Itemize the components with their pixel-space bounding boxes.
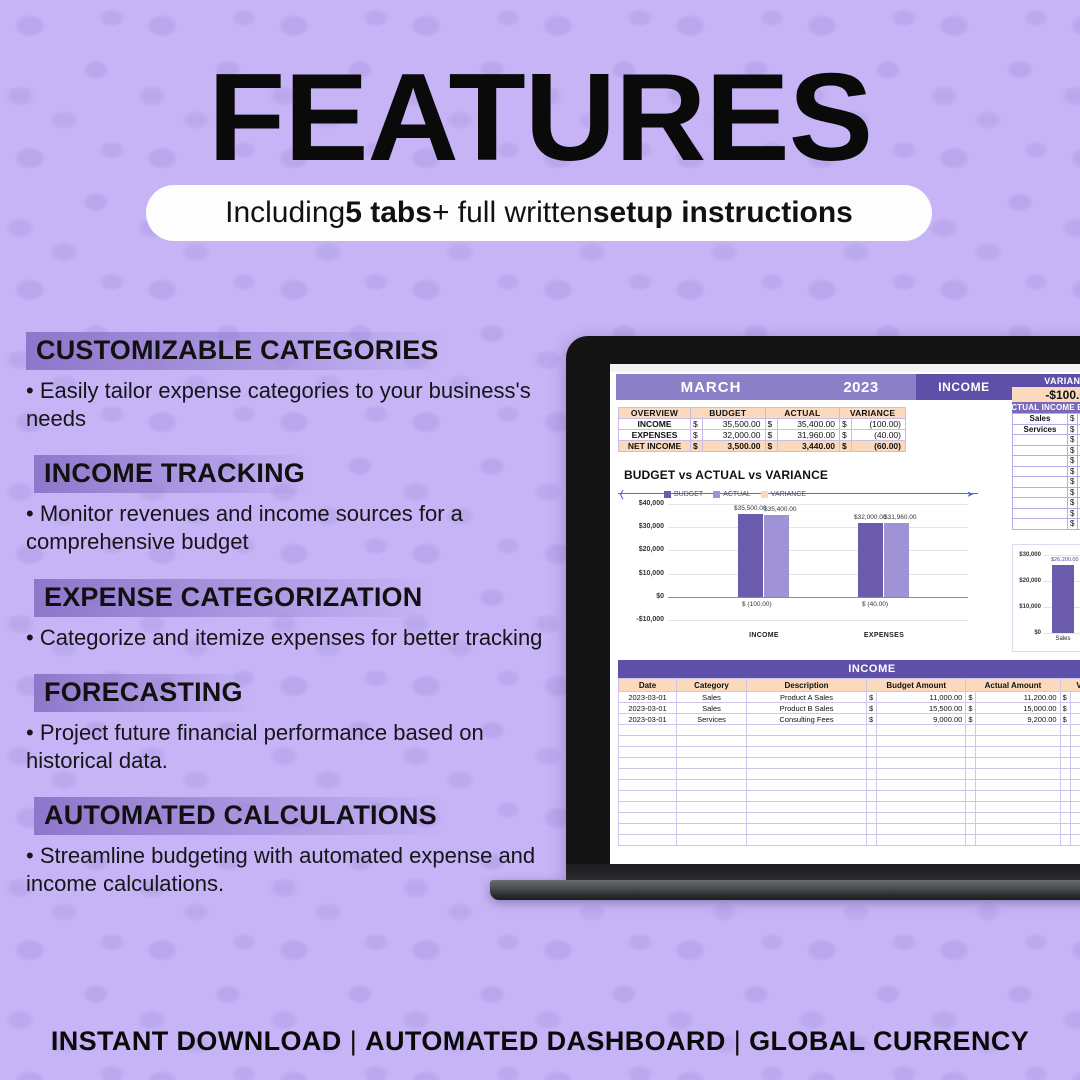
- legend-item-variance: VARIANCE: [761, 491, 806, 498]
- chart-bar-value-label: $35,400.00: [764, 506, 797, 513]
- chart-plot-area: $40,000$30,000$20,000$10,000$0-$10,000$3…: [668, 504, 968, 620]
- currency-symbol: $: [840, 430, 852, 441]
- income-col-description: Description: [747, 679, 867, 692]
- table-row: Sales$26,200.00: [1013, 414, 1080, 425]
- income-col-date: Date: [619, 679, 677, 692]
- currency-symbol: $: [966, 703, 976, 714]
- currency-symbol: $: [867, 692, 877, 703]
- subtitle-pre: Including: [225, 196, 345, 230]
- budget-vs-actual-chart: BUDGET vs ACTUAL vs VARIANCE ❬ ➤ BUDGET …: [618, 468, 978, 650]
- overview-variance-value: (100.00): [852, 419, 906, 430]
- income-date: 2023-03-01: [619, 692, 677, 703]
- chart-bar-value-label: $35,500.00: [734, 505, 767, 512]
- chart-y-tick-label: -$10,000: [636, 616, 664, 623]
- feature-item-customizable-categories: CUSTOMIZABLE CATEGORIES • Easily tailor …: [26, 332, 586, 433]
- income-col-actual-amount: Actual Amount: [966, 679, 1060, 692]
- income-banner: INCOME: [916, 374, 1012, 400]
- table-row: $-: [1013, 487, 1080, 498]
- overview-actual-value: 35,400.00: [777, 419, 840, 430]
- currency-symbol: $: [1060, 692, 1070, 703]
- currency-symbol: $: [840, 441, 852, 452]
- actual-income-breakdown-banner: ACTUAL INCOME BREAKDOWN: [1012, 402, 1080, 413]
- chart-x-tick-label: INCOME: [742, 632, 786, 639]
- chart-variance-label: $ (40.00): [862, 601, 888, 608]
- legend-label: ACTUAL: [723, 491, 751, 498]
- table-row-empty: [619, 747, 1080, 758]
- overview-row-label: INCOME: [619, 419, 691, 430]
- income-budget-amount: 15,500.00: [877, 703, 966, 714]
- month-banner: MARCH 2023: [616, 374, 916, 400]
- spreadsheet-viewport: MARCH 2023 INCOME VARIANCE -$100.00 ACTU…: [610, 364, 1080, 864]
- table-row-empty: [619, 802, 1080, 813]
- overview-table: OVERVIEW BUDGET ACTUAL VARIANCE INCOME $…: [618, 407, 906, 452]
- table-row-empty: [619, 725, 1080, 736]
- income-detail-title: INCOME: [618, 660, 1080, 678]
- table-row: Services$9,200.00: [1013, 424, 1080, 435]
- table-row: $-: [1013, 508, 1080, 519]
- chart-y-tick-label: $20,000: [639, 546, 664, 553]
- table-row: $-: [1013, 466, 1080, 477]
- feature-body: • Streamline budgeting with automated ex…: [26, 842, 566, 898]
- legend-label: BUDGET: [674, 491, 703, 498]
- chart-bar-value-label: $32,000.00: [854, 514, 887, 521]
- feature-heading: CUSTOMIZABLE CATEGORIES: [26, 332, 449, 370]
- currency-symbol: $: [691, 441, 703, 452]
- legend-swatch-icon: [713, 491, 720, 498]
- laptop-screen: MARCH 2023 INCOME VARIANCE -$100.00 ACTU…: [610, 364, 1080, 864]
- subtitle-bold-tabs: 5 tabs: [345, 196, 432, 230]
- currency-symbol: $: [765, 419, 777, 430]
- feature-body: • Project future financial performance b…: [26, 719, 566, 775]
- currency-symbol: $: [765, 430, 777, 441]
- income-category: Sales: [677, 692, 747, 703]
- table-row: EXPENSES $ 32,000.00 $ 31,960.00 $ (40.0…: [619, 430, 906, 441]
- overview-col-budget: BUDGET: [691, 408, 766, 419]
- currency-symbol: $: [1068, 477, 1078, 488]
- chart-gridline: [668, 620, 968, 621]
- income-col-category: Category: [677, 679, 747, 692]
- chart-y-tick-label: $30,000: [1013, 552, 1041, 558]
- breakdown-name: [1013, 508, 1068, 519]
- income-date: 2023-03-01: [619, 703, 677, 714]
- chart-baseline: [668, 597, 968, 598]
- currency-symbol: $: [840, 419, 852, 430]
- feature-body: • Categorize and itemize expenses for be…: [26, 624, 566, 652]
- table-row-empty: [619, 835, 1080, 846]
- income-actual-amount: 15,000.00: [976, 703, 1060, 714]
- breakdown-name: Services: [1013, 424, 1068, 435]
- income-category: Sales: [677, 703, 747, 714]
- breakdown-name: [1013, 456, 1068, 467]
- overview-actual-value: 3,440.00: [777, 441, 840, 452]
- income-col-variance: Variance: [1060, 679, 1080, 692]
- table-row-empty: [619, 791, 1080, 802]
- table-row: $-: [1013, 498, 1080, 509]
- feature-heading: FORECASTING: [34, 674, 253, 712]
- currency-symbol: $: [691, 430, 703, 441]
- chart-bar-budget: [738, 514, 763, 596]
- chart-bar-actual: [884, 523, 909, 597]
- chart-bar-actual: [764, 515, 789, 597]
- currency-symbol: $: [765, 441, 777, 452]
- table-row-empty: [619, 824, 1080, 835]
- page-title: FEATURES: [0, 56, 1080, 180]
- footer-banner: INSTANT DOWNLOAD|AUTOMATED DASHBOARD|GLO…: [0, 1026, 1080, 1057]
- overview-variance-value: (60.00): [852, 441, 906, 452]
- income-detail-table: Date Category Description Budget Amount …: [618, 678, 1080, 846]
- currency-symbol: $: [1068, 456, 1078, 467]
- overview-col-actual: ACTUAL: [765, 408, 840, 419]
- table-row: 2023-03-01ServicesConsulting Fees$9,000.…: [619, 714, 1080, 725]
- chart-gridline: [668, 504, 968, 505]
- table-row: $-: [1013, 435, 1080, 446]
- chart-scroll-left-icon[interactable]: ❬: [618, 489, 626, 500]
- chart-gridline: [668, 574, 968, 575]
- currency-symbol: $: [1068, 445, 1078, 456]
- currency-symbol: $: [691, 419, 703, 430]
- feature-item-income-tracking: INCOME TRACKING • Monitor revenues and i…: [26, 455, 586, 556]
- chart-title: BUDGET vs ACTUAL vs VARIANCE: [624, 468, 828, 482]
- chart-bar-sales: [1052, 565, 1074, 633]
- chart-bar-value-label: $31,960.00: [884, 514, 917, 521]
- chart-legend: BUDGET ACTUAL VARIANCE: [664, 488, 964, 500]
- table-row: 2023-03-01SalesProduct B Sales$15,500.00…: [619, 703, 1080, 714]
- table-row: $-: [1013, 477, 1080, 488]
- income-budget-amount: 9,000.00: [877, 714, 966, 725]
- breakdown-name: [1013, 445, 1068, 456]
- income-breakdown-chart: $30,000$20,000$10,000$0$26,200.00Sales$9…: [1012, 544, 1080, 652]
- feature-body: • Monitor revenues and income sources fo…: [26, 500, 566, 556]
- spreadsheet-top-strip: [610, 364, 1080, 372]
- breakdown-name: [1013, 477, 1068, 488]
- table-row: $-: [1013, 519, 1080, 530]
- income-variance: 200.00: [1070, 692, 1080, 703]
- footer-separator: |: [726, 1026, 749, 1056]
- overview-budget-value: 3,500.00: [703, 441, 766, 452]
- chart-bar-value-label: $26,200.00: [1051, 557, 1079, 563]
- table-header-row: OVERVIEW BUDGET ACTUAL VARIANCE: [619, 408, 906, 419]
- table-row: INCOME $ 35,500.00 $ 35,400.00 $ (100.00…: [619, 419, 906, 430]
- chart-y-tick-label: $0: [1013, 630, 1041, 636]
- variance-banner: VARIANCE: [1012, 374, 1080, 387]
- overview-budget-value: 35,500.00: [703, 419, 766, 430]
- currency-symbol: $: [1068, 424, 1078, 435]
- table-row-empty: [619, 813, 1080, 824]
- subtitle-bold-setup: setup instructions: [593, 196, 853, 230]
- chart-scroll-right-icon[interactable]: ➤: [966, 489, 974, 500]
- feature-list: CUSTOMIZABLE CATEGORIES • Easily tailor …: [26, 332, 586, 912]
- chart-gridline: [1043, 633, 1080, 634]
- subtitle-mid: + full written: [432, 196, 593, 230]
- overview-budget-value: 32,000.00: [703, 430, 766, 441]
- legend-item-budget: BUDGET: [664, 491, 703, 498]
- chart-y-tick-label: $0: [656, 593, 664, 600]
- table-row-total: NET INCOME $ 3,500.00 $ 3,440.00 $ (60.0…: [619, 441, 906, 452]
- income-variance: (500.00): [1070, 703, 1080, 714]
- currency-symbol: $: [1068, 487, 1078, 498]
- income-variance: 200.00: [1070, 714, 1080, 725]
- overview-actual-value: 31,960.00: [777, 430, 840, 441]
- income-category: Services: [677, 714, 747, 725]
- breakdown-name: [1013, 519, 1068, 530]
- table-row: $-: [1013, 445, 1080, 456]
- table-row: $-: [1013, 456, 1080, 467]
- income-description: Consulting Fees: [747, 714, 867, 725]
- table-row-empty: [619, 780, 1080, 791]
- breakdown-name: [1013, 498, 1068, 509]
- overview-row-label: EXPENSES: [619, 430, 691, 441]
- currency-symbol: $: [1068, 435, 1078, 446]
- chart-variance-label: $ (100.00): [742, 601, 772, 608]
- chart-gridline: [668, 550, 968, 551]
- chart-bar-budget: [858, 523, 883, 597]
- currency-symbol: $: [966, 714, 976, 725]
- legend-swatch-icon: [761, 491, 768, 498]
- currency-symbol: $: [1068, 498, 1078, 509]
- table-row-empty: [619, 736, 1080, 747]
- currency-symbol: $: [966, 692, 976, 703]
- feature-item-automated-calculations: AUTOMATED CALCULATIONS • Streamline budg…: [26, 797, 586, 898]
- chart-y-tick-label: $10,000: [1013, 604, 1041, 610]
- currency-symbol: $: [1068, 508, 1078, 519]
- chart-y-tick-label: $10,000: [639, 570, 664, 577]
- overview-col-overview: OVERVIEW: [619, 408, 691, 419]
- table-row-empty: [619, 758, 1080, 769]
- feature-item-expense-categorization: EXPENSE CATEGORIZATION • Categorize and …: [26, 579, 586, 652]
- chart-gridline: [1043, 555, 1080, 556]
- currency-symbol: $: [1068, 466, 1078, 477]
- month-label: MARCH: [616, 379, 806, 396]
- income-date: 2023-03-01: [619, 714, 677, 725]
- income-budget-amount: 11,000.00: [877, 692, 966, 703]
- laptop-mockup: MARCH 2023 INCOME VARIANCE -$100.00 ACTU…: [566, 336, 1080, 916]
- chart-gridline: [668, 527, 968, 528]
- income-description: Product B Sales: [747, 703, 867, 714]
- currency-symbol: $: [1068, 519, 1078, 530]
- chart-y-tick-label: $30,000: [639, 523, 664, 530]
- feature-heading: INCOME TRACKING: [34, 455, 315, 493]
- overview-col-variance: VARIANCE: [840, 408, 906, 419]
- footer-item-global-currency: GLOBAL CURRENCY: [749, 1026, 1029, 1056]
- legend-swatch-icon: [664, 491, 671, 498]
- chart-y-tick-label: $40,000: [639, 500, 664, 507]
- actual-income-breakdown-table: Sales$26,200.00Services$9,200.00$-$-$-$-…: [1012, 413, 1080, 530]
- currency-symbol: $: [1060, 714, 1070, 725]
- table-header-row: Date Category Description Budget Amount …: [619, 679, 1080, 692]
- currency-symbol: $: [867, 714, 877, 725]
- currency-symbol: $: [1060, 703, 1070, 714]
- breakdown-name: [1013, 466, 1068, 477]
- breakdown-name: [1013, 487, 1068, 498]
- income-actual-amount: 11,200.00: [976, 692, 1060, 703]
- income-actual-amount: 9,200.00: [976, 714, 1060, 725]
- chart-x-tick-label: EXPENSES: [862, 632, 906, 639]
- currency-symbol: $: [1068, 414, 1078, 425]
- legend-item-actual: ACTUAL: [713, 491, 751, 498]
- income-col-budget-amount: Budget Amount: [867, 679, 966, 692]
- footer-separator: |: [342, 1026, 365, 1056]
- variance-value: -$100.00: [1012, 387, 1080, 402]
- chart-x-tick-label: Sales: [1045, 636, 1080, 642]
- subtitle-pill: Including 5 tabs + full written setup in…: [146, 185, 932, 241]
- feature-item-forecasting: FORECASTING • Project future financial p…: [26, 674, 586, 775]
- overview-variance-value: (40.00): [852, 430, 906, 441]
- year-label: 2023: [806, 379, 916, 396]
- income-description: Product A Sales: [747, 692, 867, 703]
- footer-item-automated-dashboard: AUTOMATED DASHBOARD: [365, 1026, 726, 1056]
- currency-symbol: $: [867, 703, 877, 714]
- overview-row-label: NET INCOME: [619, 441, 691, 452]
- breakdown-name: [1013, 435, 1068, 446]
- feature-body: • Easily tailor expense categories to yo…: [26, 377, 566, 433]
- chart-y-tick-label: $20,000: [1013, 578, 1041, 584]
- spreadsheet-app: MARCH 2023 INCOME VARIANCE -$100.00 ACTU…: [610, 364, 1080, 864]
- legend-label: VARIANCE: [771, 491, 806, 498]
- table-row-empty: [619, 769, 1080, 780]
- table-row: 2023-03-01SalesProduct A Sales$11,000.00…: [619, 692, 1080, 703]
- breakdown-name: Sales: [1013, 414, 1068, 425]
- feature-heading: AUTOMATED CALCULATIONS: [34, 797, 447, 835]
- footer-item-instant-download: INSTANT DOWNLOAD: [51, 1026, 342, 1056]
- feature-heading: EXPENSE CATEGORIZATION: [34, 579, 432, 617]
